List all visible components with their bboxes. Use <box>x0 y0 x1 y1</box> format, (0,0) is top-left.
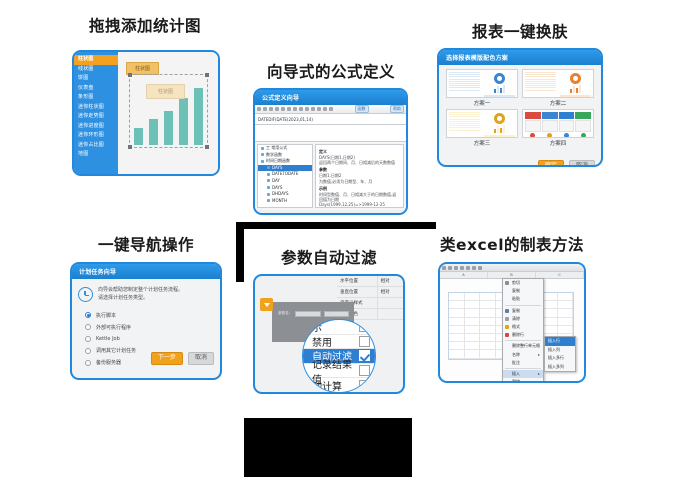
grid-cell[interactable] <box>449 350 465 358</box>
tree-node-6[interactable]: DAYS <box>258 185 312 192</box>
caption-filter: 参数自动过滤 <box>253 246 405 268</box>
task-option-2[interactable]: Kettle Job <box>85 333 220 344</box>
menu-item-10[interactable]: 插入▸ <box>503 370 543 378</box>
decor-black-block <box>244 418 412 477</box>
menu-item-4[interactable]: 清除 <box>503 315 543 323</box>
formula-dialog-title: 公式定义向导 <box>255 90 406 105</box>
tree-node-3[interactable]: DAYS <box>258 165 312 172</box>
tree-node-label: MONTH <box>272 198 287 203</box>
parameter-field-label: 参数名： <box>278 311 292 316</box>
decor-black-bar-top <box>236 222 436 229</box>
menu-item-icon <box>505 281 509 285</box>
grid-cell[interactable] <box>558 293 574 301</box>
sidebar-item-4[interactable]: 条形图 <box>74 93 118 103</box>
menu-separator <box>505 368 541 369</box>
sidebar-item-label: 迷你走势图 <box>78 113 104 119</box>
menu-item-label: 插入 <box>512 371 520 377</box>
grid-cell[interactable] <box>558 326 574 334</box>
skin-option-label: 方案一 <box>446 99 517 107</box>
bar-4 <box>179 98 188 145</box>
italic-icon[interactable] <box>293 107 297 111</box>
grid-cell[interactable] <box>465 334 481 342</box>
grid-cell[interactable] <box>480 301 496 309</box>
panel-skin-chooser[interactable]: 选择报表模版配色方案 方案一方案二方案三方案四 确定 取消 <box>437 48 603 167</box>
context-submenu[interactable]: 插入行插入列插入多行插入多列 <box>544 336 576 372</box>
menu-item-6[interactable]: 删除行 <box>503 331 543 339</box>
cancel-button[interactable]: 取消 <box>569 160 595 167</box>
grid-cell[interactable] <box>465 342 481 350</box>
property-value[interactable]: 相对 <box>377 276 403 286</box>
menu-item-label: 批注 <box>512 360 520 366</box>
panel-auto-filter[interactable]: 水平位置相对垂直位置相对自定义样式背景颜色 参数名： 确定 示禁用自动过滤记录结… <box>253 274 405 394</box>
resize-handle-top-left[interactable] <box>128 73 132 77</box>
property-value[interactable] <box>377 309 403 319</box>
radio-icon[interactable] <box>85 360 91 366</box>
grid-cell[interactable] <box>558 309 574 317</box>
menu-item-2[interactable]: 粘贴 <box>503 295 543 303</box>
panel-excel-table[interactable]: ABC 剪切复制粘贴复制清除格式删除行删除整行单元格名称▸批注插入▸删除▸列宽▸… <box>438 262 586 383</box>
property-value[interactable]: 相对 <box>377 287 403 297</box>
drag-ghost-tag[interactable]: 柱状图 <box>146 84 185 99</box>
radio-icon[interactable] <box>85 348 91 354</box>
grid-cell[interactable] <box>449 293 465 301</box>
menu-item-3[interactable]: 复制 <box>503 307 543 315</box>
caption-skin: 报表一键换肤 <box>437 20 603 42</box>
menu-item-0[interactable]: 剪切 <box>503 279 543 287</box>
radio-icon[interactable] <box>85 324 91 330</box>
context-menu[interactable]: 剪切复制粘贴复制清除格式删除行删除整行单元格名称▸批注插入▸删除▸列宽▸ <box>502 278 544 383</box>
function-description: 定义 DAYS(日期1,日期2) 返回两个日期间、月、日相减后的天数数值 参数 … <box>315 144 404 208</box>
parameter-input-2[interactable] <box>324 311 349 317</box>
plus-icon[interactable] <box>299 107 303 111</box>
multiply-icon[interactable] <box>311 107 315 111</box>
desc-text-2: 返回两个日期间、月、日相减后的天数数值 <box>319 160 400 165</box>
task-intro: 向导会帮助您制定整个计划任务流程。 请选择计划任务类型。 <box>98 286 183 302</box>
sidebar-item-label: 迷你柱状图 <box>78 104 104 110</box>
cut-icon[interactable] <box>269 107 273 111</box>
filter-option-label: 动计算 <box>312 378 342 393</box>
excel-toolbar[interactable] <box>440 264 584 272</box>
menu-item-label: 删除行 <box>512 332 524 338</box>
cancel-button[interactable]: 取消 <box>188 352 214 365</box>
task-intro-line2: 请选择计划任务类型。 <box>98 294 183 302</box>
grid-cell[interactable] <box>465 293 481 301</box>
sidebar-item-0[interactable]: 柱状图 <box>74 55 118 65</box>
tree-node-icon <box>267 193 270 196</box>
submenu-item-0[interactable]: 插入行 <box>545 337 575 346</box>
task-option-1[interactable]: 外部可执行程序 <box>85 321 220 333</box>
skin-option-label: 方案二 <box>522 99 593 107</box>
copy-icon[interactable] <box>275 107 279 111</box>
parameter-input-1[interactable] <box>295 311 320 317</box>
menu-item-7[interactable]: 删除整行单元格 <box>503 342 543 350</box>
grid-cell[interactable] <box>480 342 496 350</box>
resize-handle-bottom-right[interactable] <box>205 145 209 149</box>
menu-item-1[interactable]: 复制 <box>503 287 543 295</box>
grid-cell[interactable] <box>542 293 558 301</box>
tree-node-7[interactable]: DHDAYS <box>258 191 312 198</box>
tree-node-8[interactable]: MONTH <box>258 198 312 205</box>
chevron-right-icon: ▸ <box>538 352 540 357</box>
chevron-right-icon: ▸ <box>538 380 540 383</box>
menu-item-label: 复制 <box>512 308 520 314</box>
sidebar-item-label: 迷你进度图 <box>78 123 104 129</box>
grid-cell[interactable] <box>558 301 574 309</box>
checkbox[interactable] <box>359 321 370 332</box>
skin-thumbnail[interactable] <box>446 69 517 98</box>
sidebar-item-label: 地图 <box>78 151 88 157</box>
skin-option-0[interactable]: 方案一 <box>446 69 517 107</box>
tree-node-icon <box>267 186 270 189</box>
menu-item-label: 名称 <box>512 352 520 358</box>
menu-item-11[interactable]: 删除▸ <box>503 378 543 383</box>
filter-tab-button[interactable] <box>260 298 273 311</box>
undo-icon[interactable] <box>448 266 452 270</box>
formula-toolbar[interactable]: 函数 帮助 <box>255 105 406 114</box>
grid-cell[interactable] <box>465 309 481 317</box>
tree-node-label: 工 常用公式 <box>266 145 287 150</box>
menu-item-icon <box>505 317 509 321</box>
grid-cell[interactable] <box>465 318 481 326</box>
grid-cell[interactable] <box>542 309 558 317</box>
screenshot-root: 拖拽添加统计图 向导式的公式定义 报表一键换肤 一键导航操作 参数自动过滤 类e… <box>0 0 676 480</box>
tree-node-icon <box>267 179 270 182</box>
save-icon[interactable] <box>442 266 446 270</box>
desc-text-6: Days(1999,12,25)=>1999-12-25 <box>319 202 400 207</box>
sidebar-item-5[interactable]: 迷你柱状图 <box>74 103 118 113</box>
caption-formula: 向导式的公式定义 <box>255 60 407 82</box>
grid-cell[interactable] <box>480 350 496 358</box>
checkbox[interactable] <box>359 380 370 391</box>
menu-item-8[interactable]: 名称▸ <box>503 351 543 359</box>
grid-cell[interactable] <box>542 301 558 309</box>
tree-node-label: DHDAYS <box>272 191 289 196</box>
toolbar-pill-help[interactable]: 帮助 <box>390 105 404 113</box>
tree-node-label: DAYS <box>272 185 282 190</box>
chevron-right-icon: ▸ <box>538 371 540 376</box>
skin-thumbnail[interactable] <box>522 109 593 138</box>
formula-footer: 确定 取消 <box>255 210 406 215</box>
radio-icon[interactable] <box>85 312 91 318</box>
skin-dialog-title: 选择报表模版配色方案 <box>439 50 601 65</box>
resize-handle-bottom-left[interactable] <box>128 145 132 149</box>
grid-cell[interactable] <box>449 301 465 309</box>
sidebar-item-8[interactable]: 迷你环形图 <box>74 131 118 141</box>
function-icon[interactable] <box>329 107 333 111</box>
grid-cell[interactable] <box>480 309 496 317</box>
radio-icon[interactable] <box>85 336 91 342</box>
tree-node-2[interactable]: 时间日期函数 <box>258 158 312 165</box>
grid-cell[interactable] <box>480 293 496 301</box>
checkbox[interactable] <box>359 336 370 347</box>
skin-option-label: 方案四 <box>522 139 593 147</box>
menu-item-label: 复制 <box>512 288 520 294</box>
tree-node-label: 时间日期函数 <box>266 158 290 163</box>
filter-option-1[interactable]: 禁用 <box>303 335 375 350</box>
bar-2 <box>149 119 158 145</box>
menu-item-label: 格式 <box>512 324 520 330</box>
tree-node-4[interactable]: DATETODATE <box>258 171 312 178</box>
paste-icon[interactable] <box>281 107 285 111</box>
menu-item-icon <box>505 325 509 329</box>
resize-handle-top-right[interactable] <box>205 73 209 77</box>
property-key: 水平位置 <box>337 276 377 286</box>
task-option-label: 调用其它计划任务 <box>96 347 136 354</box>
grid-cell[interactable] <box>542 326 558 334</box>
border-icon[interactable] <box>478 266 482 270</box>
submenu-item-1[interactable]: 插入列 <box>545 346 575 355</box>
bar-3 <box>164 111 173 145</box>
sidebar-item-3[interactable]: 仪表盘 <box>74 84 118 94</box>
task-intro-line1: 向导会帮助您制定整个计划任务流程。 <box>98 286 183 294</box>
caption-navigation: 一键导航操作 <box>70 233 222 255</box>
menu-item-icon <box>505 333 509 337</box>
sidebar-item-label: 条形图 <box>78 94 94 100</box>
menu-separator <box>505 340 541 341</box>
tree-node-label: 数学函数 <box>266 152 282 157</box>
checkbox[interactable] <box>359 365 370 376</box>
skin-thumbnail[interactable] <box>446 109 517 138</box>
tree-node-icon <box>261 160 264 163</box>
sidebar-item-label: 饼图 <box>78 75 88 81</box>
sidebar-item-label: 线状图 <box>78 66 94 72</box>
menu-item-9[interactable]: 批注 <box>503 359 543 367</box>
desc-text-5: 时间型数值、月、日相减大于的日期数值,返回值为日期 <box>319 192 400 202</box>
skin-option-3[interactable]: 方案四 <box>522 109 593 147</box>
next-button[interactable]: 下一步 <box>151 352 183 365</box>
tree-node-label: DAYS <box>272 165 282 170</box>
grid-cell[interactable] <box>480 334 496 342</box>
sidebar-item-1[interactable]: 线状图 <box>74 65 118 75</box>
grid-cell[interactable] <box>449 326 465 334</box>
property-row-1[interactable]: 垂直位置相对 <box>337 287 403 298</box>
toolbar-pill-function[interactable]: 函数 <box>355 105 369 113</box>
tree-node-icon <box>267 173 270 176</box>
grid-cell[interactable] <box>449 318 465 326</box>
skin-thumbnail[interactable] <box>522 69 593 98</box>
funnel-icon <box>264 303 270 307</box>
minus-icon[interactable] <box>305 107 309 111</box>
panel-chart-designer[interactable]: 柱状图 线状图 饼图 仪表盘 条形图 迷你柱状图 迷你走势图 迷你进度图 迷你环… <box>72 50 220 176</box>
menu-item-label: 删除 <box>512 379 520 383</box>
tree-node-icon <box>267 199 270 202</box>
submenu-item-2[interactable]: 插入多行 <box>545 354 575 363</box>
chart-canvas[interactable]: 柱状图 柱状图 <box>118 52 218 174</box>
column-header-A[interactable]: A <box>440 272 488 278</box>
sidebar-item-label: 柱状图 <box>78 56 94 62</box>
property-row-0[interactable]: 水平位置相对 <box>337 276 403 287</box>
grid-cell[interactable] <box>558 318 574 326</box>
grid-cell[interactable] <box>465 350 481 358</box>
caption-excel: 类excel的制表方法 <box>430 233 594 255</box>
grid-cell[interactable] <box>449 334 465 342</box>
bold-icon[interactable] <box>287 107 291 111</box>
property-value[interactable] <box>377 298 403 308</box>
tree-node-icon <box>267 166 270 169</box>
panel-formula-wizard[interactable]: 公式定义向导 函数 帮助 DATEDIF(DATE(2023,01,14) <box>253 88 408 215</box>
grid-cell[interactable] <box>465 301 481 309</box>
tree-node-5[interactable]: DAY <box>258 178 312 185</box>
menu-separator <box>505 305 541 306</box>
grid-cell[interactable] <box>449 309 465 317</box>
undo-icon[interactable] <box>257 107 261 111</box>
tree-node-label: DATETODATE <box>272 171 298 176</box>
desc-text-4: 为数值,必须为日期型、年、月 <box>319 179 400 184</box>
sidebar-item-label: 迷你环形图 <box>78 132 104 138</box>
task-option-label: 备份服务器 <box>96 359 121 366</box>
sidebar-item-label: 迷你占比图 <box>78 142 104 148</box>
grid-cell[interactable] <box>542 318 558 326</box>
bar-1 <box>134 128 143 145</box>
menu-item-5[interactable]: 格式 <box>503 323 543 331</box>
sidebar-item-2[interactable]: 饼图 <box>74 74 118 84</box>
grid-cell[interactable] <box>465 326 481 334</box>
merge-icon[interactable] <box>460 266 464 270</box>
property-key: 垂直位置 <box>337 287 377 297</box>
grid-icon[interactable] <box>454 266 458 270</box>
task-option-label: 外部可执行程序 <box>96 324 131 331</box>
skin-option-1[interactable]: 方案二 <box>522 69 593 107</box>
skin-option-2[interactable]: 方案三 <box>446 109 517 147</box>
magnifier-overlay: 示禁用自动过滤记录结果值动计算 <box>302 319 376 393</box>
menu-item-icon <box>505 309 509 313</box>
grid-cell[interactable] <box>480 318 496 326</box>
task-option-label: Kettle Job <box>96 336 120 342</box>
tree-node-label: DAY <box>272 178 280 183</box>
ok-button[interactable]: 确定 <box>538 160 564 167</box>
filter-option-4[interactable]: 动计算 <box>303 378 375 393</box>
sidebar-item-7[interactable]: 迷你进度图 <box>74 122 118 132</box>
font-icon[interactable] <box>466 266 470 270</box>
submenu-item-3[interactable]: 插入多列 <box>545 363 575 372</box>
task-option-0[interactable]: 执行脚本 <box>85 309 220 321</box>
task-footer: 下一步 取消 <box>151 344 214 365</box>
sidebar-item-label: 仪表盘 <box>78 85 94 91</box>
menu-item-label: 粘贴 <box>512 296 520 302</box>
formula-edit-area[interactable] <box>255 125 406 142</box>
redo-icon[interactable] <box>263 107 267 111</box>
bracket-icon[interactable] <box>323 107 327 111</box>
function-tree[interactable]: 工 常用公式数学函数时间日期函数DAYSDATETODATEDAYDAYSDHD… <box>257 144 313 208</box>
skin-option-grid[interactable]: 方案一方案二方案三方案四 <box>439 65 601 149</box>
task-option-label: 执行脚本 <box>96 312 116 319</box>
skin-footer: 确定 取消 <box>439 149 601 167</box>
menu-item-label: 删除整行单元格 <box>512 343 540 349</box>
sidebar-item-9[interactable]: 迷你占比图 <box>74 141 118 151</box>
tree-node-icon <box>261 153 264 156</box>
align-icon[interactable] <box>472 266 476 270</box>
caption-chart: 拖拽添加统计图 <box>0 14 290 36</box>
grid-cell[interactable] <box>480 326 496 334</box>
panel-task-wizard[interactable]: 计划任务向导 向导会帮助您制定整个计划任务流程。 请选择计划任务类型。 执行脚本… <box>70 262 222 380</box>
sidebar-item-6[interactable]: 迷你走势图 <box>74 112 118 122</box>
menu-item-label: 剪切 <box>512 280 520 286</box>
bar-5 <box>194 88 203 145</box>
tree-node-0[interactable]: 工 常用公式 <box>258 145 312 152</box>
tree-node-icon <box>261 147 264 150</box>
sidebar-item-10[interactable]: 地图 <box>74 150 118 160</box>
filter-option-label: 禁用 <box>312 334 332 349</box>
decor-black-bar-left <box>236 222 244 282</box>
divide-icon[interactable] <box>317 107 321 111</box>
formula-value-field[interactable]: DATEDIF(DATE(2023,01,14) <box>255 114 406 125</box>
checkbox[interactable] <box>359 350 370 361</box>
task-dialog-title: 计划任务向导 <box>72 264 220 279</box>
clock-icon <box>78 287 93 302</box>
menu-item-label: 清除 <box>512 316 520 322</box>
grid-cell[interactable] <box>449 342 465 350</box>
chart-type-sidebar[interactable]: 柱状图 线状图 饼图 仪表盘 条形图 迷你柱状图 迷你走势图 迷你进度图 迷你环… <box>74 52 118 174</box>
skin-option-label: 方案三 <box>446 139 517 147</box>
filter-option-3[interactable]: 记录结果值 <box>303 364 375 379</box>
